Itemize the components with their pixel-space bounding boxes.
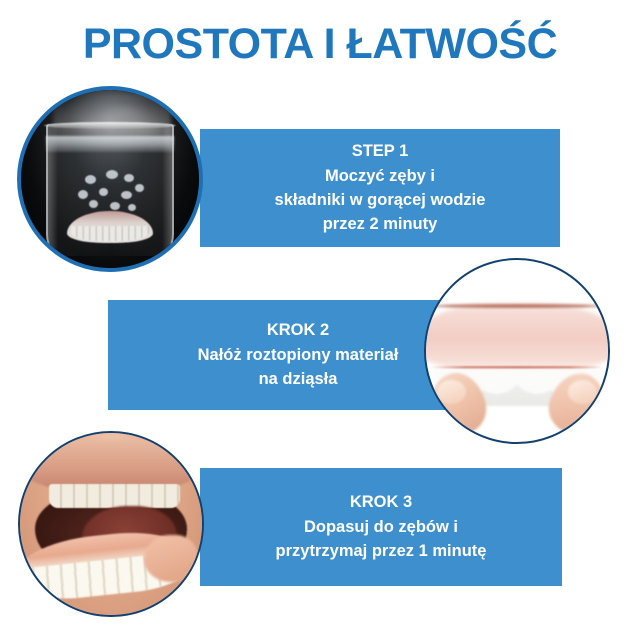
step-3-photo-denture-fitted-in-mouth — [18, 431, 204, 617]
gum-pad — [144, 535, 199, 582]
step-2-photo-denture-in-fingers — [424, 258, 610, 444]
step-1-photo-dentures-in-glass — [17, 86, 203, 272]
bubble-icon — [124, 174, 134, 182]
step-2-heading: KROK 2 — [267, 318, 329, 342]
step-3-line-2: przytrzymaj przez 1 minutę — [276, 539, 487, 563]
page-title: PROSTOTA I ŁATWOŚĆ — [0, 22, 640, 67]
bubble-icon — [128, 204, 136, 211]
step-1-line-1: Moczyć zęby i — [325, 164, 435, 188]
denture-gum-body — [424, 300, 610, 373]
glass-photo-composite — [21, 90, 199, 268]
step-1-line-2: składniki w gorącej wodzie — [275, 188, 486, 212]
gum-edge-line — [424, 304, 610, 308]
fingernail-right — [568, 380, 597, 404]
step-3-heading: KROK 3 — [350, 490, 412, 514]
fingernail-left — [437, 380, 466, 404]
upper-teeth-row — [49, 484, 180, 508]
bubble-icon — [78, 190, 88, 199]
step-1-panel: STEP 1 Moczyć zęby i składniki w gorącej… — [200, 129, 560, 247]
teeth-top-edge — [430, 366, 605, 369]
water-surface — [46, 136, 174, 152]
step-2-line-1: Nałóż roztopiony materiał — [198, 343, 399, 367]
step-1-line-3: przez 2 minuty — [323, 212, 438, 236]
step-1-heading: STEP 1 — [352, 139, 409, 163]
step-3-panel: KROK 3 Dopasuj do zębów i przytrzymaj pr… — [200, 468, 562, 586]
step-3-line-1: Dopasuj do zębów i — [304, 515, 458, 539]
step-2-line-2: na dziąsła — [259, 367, 338, 391]
